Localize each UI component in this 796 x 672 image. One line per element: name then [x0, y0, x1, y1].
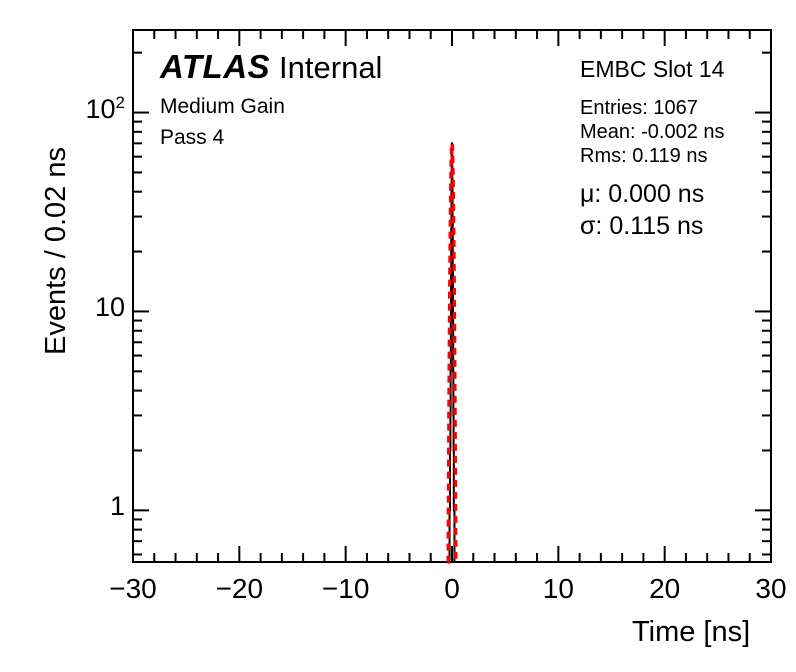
- y-tick-label: 1: [20, 491, 125, 522]
- x-tick-label: 20: [615, 573, 715, 605]
- y-tick-label: 10: [20, 292, 125, 323]
- rms-stat: Rms: 0.119 ns: [580, 145, 725, 168]
- atlas-headline: ATLASInternal: [160, 50, 382, 85]
- pass-label: Pass 4: [160, 126, 382, 150]
- x-tick-label: −30: [83, 573, 183, 605]
- x-tick-label: −10: [296, 573, 396, 605]
- x-tick-label: 10: [508, 573, 608, 605]
- atlas-status-label: Internal: [270, 50, 382, 85]
- chart-canvas: Events / 0.02 ns Time [ns] ATLASInternal…: [0, 0, 796, 672]
- fit-mu-stat: μ: 0.000 ns: [580, 180, 725, 209]
- gain-label: Medium Gain: [160, 95, 382, 119]
- x-tick-label: −20: [189, 573, 289, 605]
- gaussian-fit-curve: [448, 143, 457, 562]
- x-tick-label: 30: [721, 573, 796, 605]
- statistics-block: EMBC Slot 14 Entries: 1067 Mean: -0.002 …: [580, 56, 725, 241]
- fit-sigma-stat: σ: 0.115 ns: [580, 212, 725, 241]
- mean-stat: Mean: -0.002 ns: [580, 121, 725, 144]
- x-axis-title: Time [ns]: [632, 616, 750, 649]
- data-series-group: [448, 143, 457, 562]
- x-tick-label: 0: [402, 573, 502, 605]
- y-tick-label: 102: [20, 94, 125, 125]
- atlas-experiment-label: ATLAS: [160, 48, 270, 85]
- atlas-label-block: ATLASInternal Medium Gain Pass 4: [160, 50, 382, 150]
- entries-stat: Entries: 1067: [580, 97, 725, 120]
- slot-label: EMBC Slot 14: [580, 56, 725, 83]
